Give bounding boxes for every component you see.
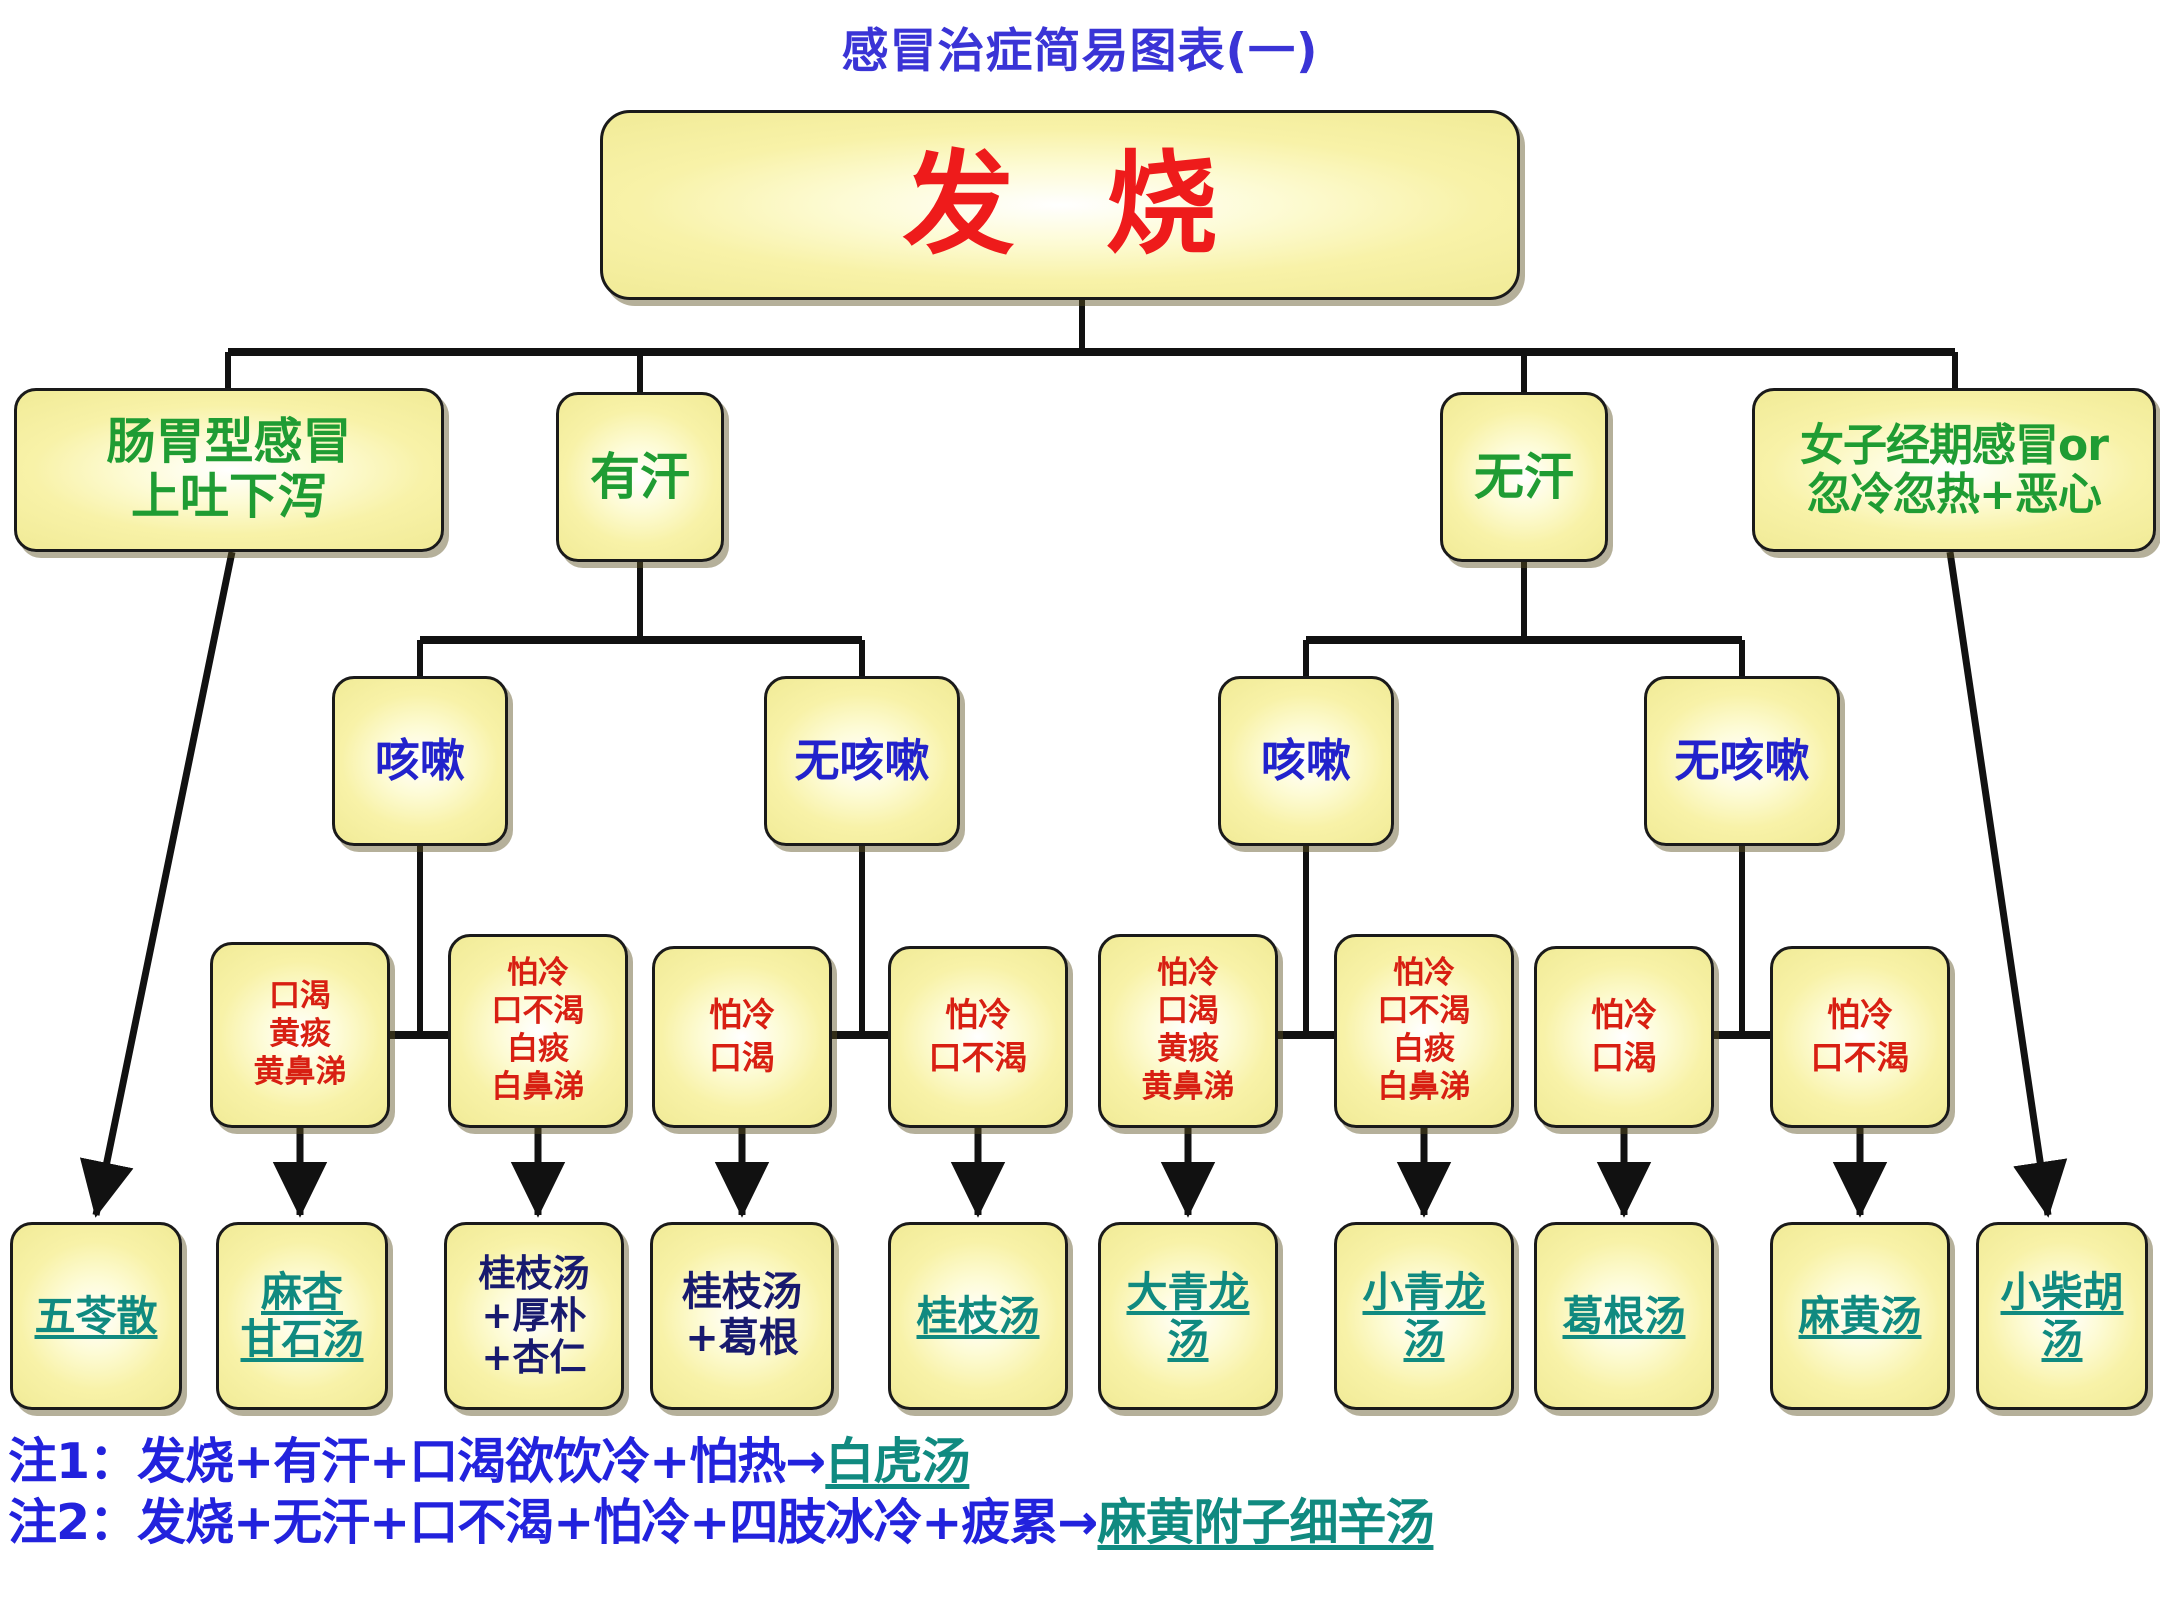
flowchart-canvas: 感冒治症简易图表(一) 发 烧 肠胃型感冒 上吐下泻 有汗 无汗 女子经期感冒o… (0, 0, 2160, 1620)
node-symptom-1-label: 口渴 黄痰 黄鼻涕 (213, 978, 387, 1091)
node-category-nosweat[interactable]: 无汗 (1440, 392, 1608, 562)
node-cough-sweat-label: 咳嗽 (335, 738, 505, 785)
node-prescription-gegentang-label: 葛根汤 (1537, 1293, 1711, 1340)
node-prescription-guizhi-houpo-xingren[interactable]: 桂枝汤 +厚朴 +杏仁 (444, 1222, 624, 1410)
footnote-1-prescription[interactable]: 白虎汤 (825, 1433, 969, 1490)
node-symptom-1[interactable]: 口渴 黄痰 黄鼻涕 (210, 942, 390, 1128)
node-nocough-nosweat[interactable]: 无咳嗽 (1644, 676, 1840, 846)
node-root-fever[interactable]: 发 烧 (600, 110, 1520, 300)
node-symptom-8[interactable]: 怕冷 口不渴 (1770, 946, 1950, 1128)
node-symptom-5[interactable]: 怕冷 口渴 黄痰 黄鼻涕 (1098, 934, 1278, 1128)
node-symptom-2-label: 怕冷 口不渴 白痰 白鼻涕 (451, 955, 625, 1106)
node-prescription-guizhitang[interactable]: 桂枝汤 (888, 1222, 1068, 1410)
node-prescription-daqinglong-label: 大青龙 汤 (1101, 1269, 1275, 1362)
node-cough-nosweat[interactable]: 咳嗽 (1218, 676, 1394, 846)
node-category-menstrual-label: 女子经期感冒or 忽冷忽热+恶心 (1755, 421, 2153, 520)
node-prescription-guizhi-gegen-label: 桂枝汤 +葛根 (653, 1270, 831, 1361)
node-symptom-4-label: 怕冷 口不渴 (891, 994, 1065, 1080)
node-prescription-gegentang[interactable]: 葛根汤 (1534, 1222, 1714, 1410)
node-category-sweat-label: 有汗 (559, 449, 721, 505)
node-category-sweat[interactable]: 有汗 (556, 392, 724, 562)
node-nocough-nosweat-label: 无咳嗽 (1647, 738, 1837, 785)
node-symptom-3-label: 怕冷 口渴 (655, 994, 829, 1080)
footnote-2-text: 注2：发烧+无汗+口不渴+怕冷+四肢冰冷+疲累→ (8, 1494, 1097, 1551)
node-category-nosweat-label: 无汗 (1443, 449, 1605, 505)
node-prescription-guizhi-houpo-xingren-label: 桂枝汤 +厚朴 +杏仁 (447, 1253, 621, 1380)
node-category-menstrual[interactable]: 女子经期感冒or 忽冷忽热+恶心 (1752, 388, 2156, 552)
node-symptom-7-label: 怕冷 口渴 (1537, 994, 1711, 1080)
node-prescription-daqinglong[interactable]: 大青龙 汤 (1098, 1222, 1278, 1410)
node-prescription-mahuangtang-label: 麻黄汤 (1773, 1293, 1947, 1340)
footnote-2-prescription[interactable]: 麻黄附子细辛汤 (1097, 1494, 1433, 1551)
node-prescription-wulingsan-label: 五苓散 (13, 1293, 179, 1340)
node-symptom-8-label: 怕冷 口不渴 (1773, 994, 1947, 1080)
page-title: 感冒治症简易图表(一) (0, 12, 2160, 81)
node-prescription-guizhi-gegen[interactable]: 桂枝汤 +葛根 (650, 1222, 834, 1410)
node-prescription-wulingsan[interactable]: 五苓散 (10, 1222, 182, 1410)
node-symptom-2[interactable]: 怕冷 口不渴 白痰 白鼻涕 (448, 934, 628, 1128)
node-symptom-7[interactable]: 怕冷 口渴 (1534, 946, 1714, 1128)
footnote-1-text: 注1：发烧+有汗+口渴欲饮冷+怕热→ (8, 1433, 825, 1490)
node-nocough-sweat-label: 无咳嗽 (767, 738, 957, 785)
node-prescription-maxing-ganshi[interactable]: 麻杏 甘石汤 (216, 1222, 388, 1410)
node-prescription-xiaochaihu[interactable]: 小柴胡 汤 (1976, 1222, 2148, 1410)
node-nocough-sweat[interactable]: 无咳嗽 (764, 676, 960, 846)
node-category-gi[interactable]: 肠胃型感冒 上吐下泻 (14, 388, 444, 552)
node-prescription-xiaoqinglong[interactable]: 小青龙 汤 (1334, 1222, 1514, 1410)
node-prescription-xiaoqinglong-label: 小青龙 汤 (1337, 1269, 1511, 1362)
node-prescription-guizhitang-label: 桂枝汤 (891, 1293, 1065, 1340)
node-root-fever-label: 发 烧 (603, 149, 1517, 261)
node-cough-nosweat-label: 咳嗽 (1221, 738, 1391, 785)
node-symptom-6[interactable]: 怕冷 口不渴 白痰 白鼻涕 (1334, 934, 1514, 1128)
footnote-1: 注1：发烧+有汗+口渴欲饮冷+怕热→白虎汤 (8, 1432, 2148, 1493)
node-symptom-4[interactable]: 怕冷 口不渴 (888, 946, 1068, 1128)
node-cough-sweat[interactable]: 咳嗽 (332, 676, 508, 846)
node-symptom-6-label: 怕冷 口不渴 白痰 白鼻涕 (1337, 955, 1511, 1106)
node-category-gi-label: 肠胃型感冒 上吐下泻 (17, 415, 441, 525)
footnote-2: 注2：发烧+无汗+口不渴+怕冷+四肢冰冷+疲累→麻黄附子细辛汤 (8, 1493, 2148, 1554)
node-prescription-maxing-ganshi-label: 麻杏 甘石汤 (219, 1269, 385, 1362)
node-prescription-xiaochaihu-label: 小柴胡 汤 (1979, 1269, 2145, 1362)
node-symptom-3[interactable]: 怕冷 口渴 (652, 946, 832, 1128)
node-symptom-5-label: 怕冷 口渴 黄痰 黄鼻涕 (1101, 955, 1275, 1106)
footnotes: 注1：发烧+有汗+口渴欲饮冷+怕热→白虎汤 注2：发烧+无汗+口不渴+怕冷+四肢… (8, 1432, 2148, 1554)
node-prescription-mahuangtang[interactable]: 麻黄汤 (1770, 1222, 1950, 1410)
